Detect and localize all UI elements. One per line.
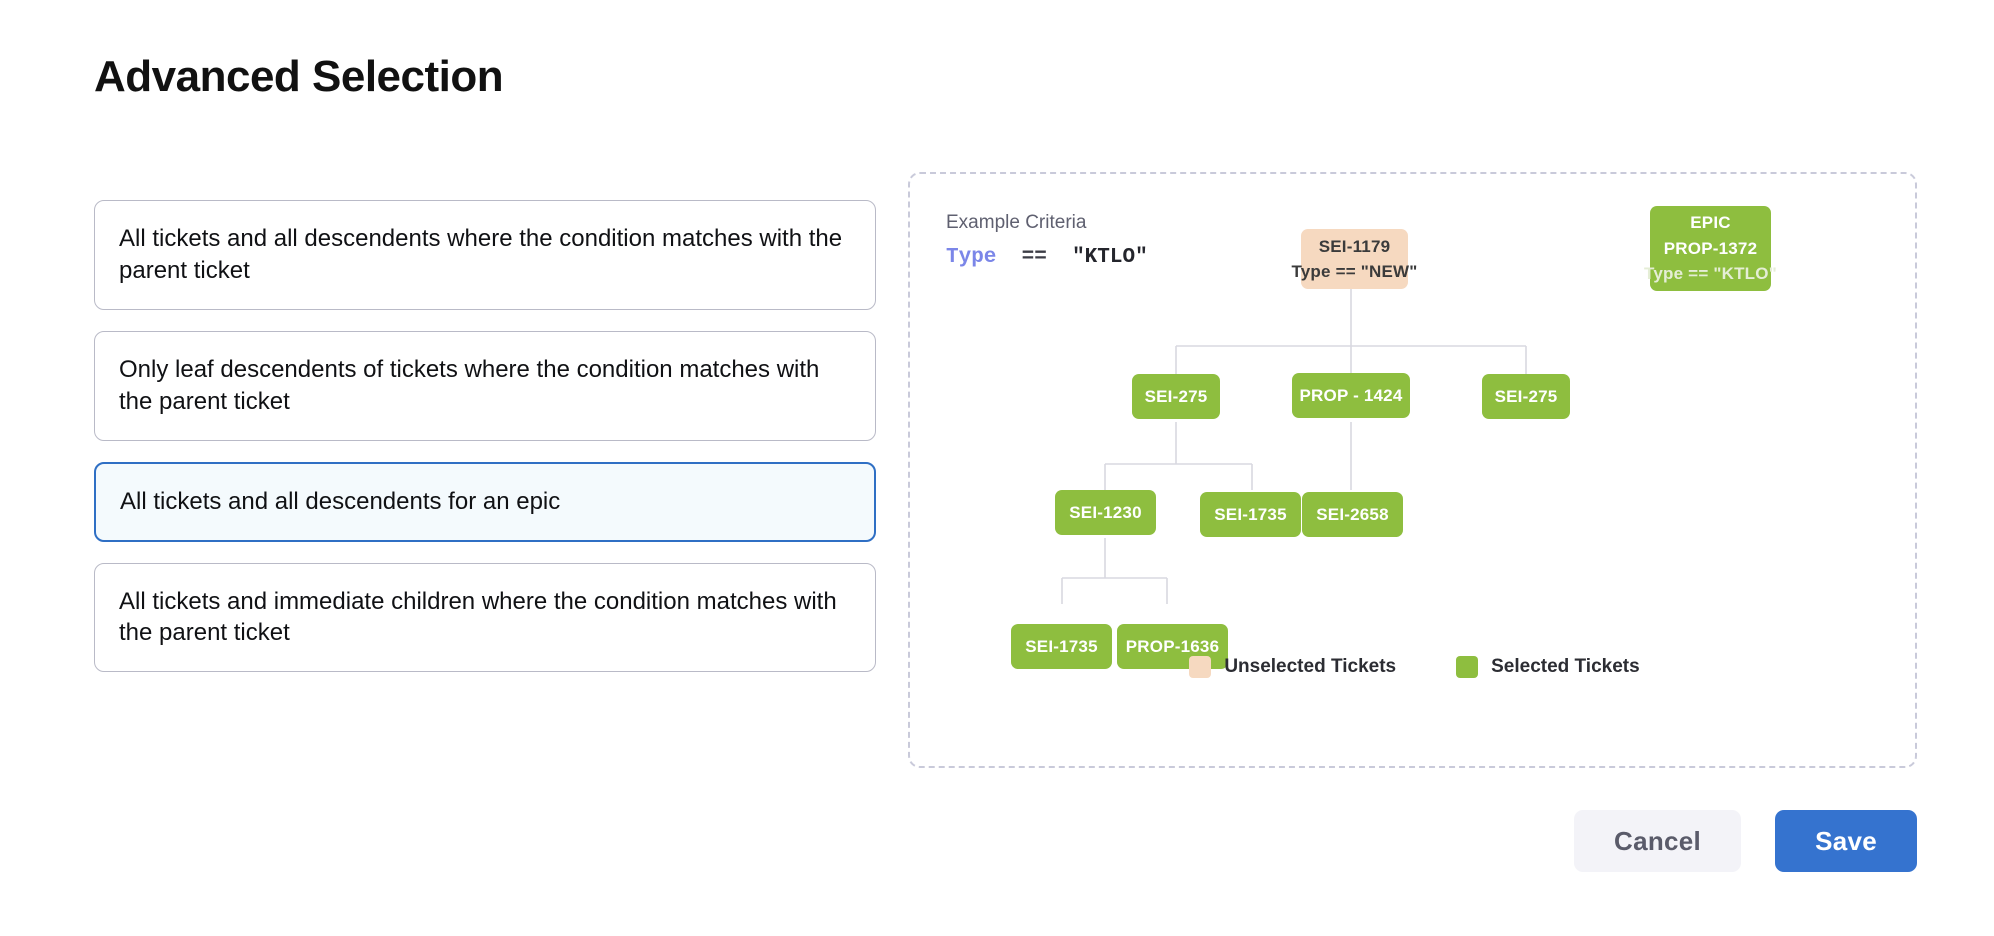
- node-line: SEI-2658: [1316, 502, 1388, 528]
- option-card-immediate-children[interactable]: All tickets and immediate children where…: [94, 563, 876, 673]
- node-line: SEI-1179: [1319, 234, 1391, 260]
- advanced-selection-dialog: Advanced Selection All tickets and all d…: [0, 0, 1994, 936]
- tree-node-prop-1424[interactable]: PROP - 1424: [1292, 373, 1410, 418]
- option-label: All tickets and all descendents where th…: [119, 225, 842, 284]
- option-card-all-descendents[interactable]: All tickets and all descendents where th…: [94, 200, 876, 310]
- tree-node-sei-2658[interactable]: SEI-2658: [1302, 492, 1403, 537]
- cancel-button[interactable]: Cancel: [1574, 810, 1741, 872]
- selection-options-list: All tickets and all descendents where th…: [94, 200, 876, 693]
- node-line: SEI-275: [1145, 384, 1208, 410]
- tree-legend: Unselected Tickets Selected Tickets: [910, 656, 1919, 678]
- legend-swatch-selected-icon: [1456, 656, 1478, 678]
- node-line: SEI-1230: [1069, 500, 1141, 526]
- page-title: Advanced Selection: [94, 52, 503, 102]
- tree-node-sei-275-left[interactable]: SEI-275: [1132, 374, 1220, 419]
- save-button[interactable]: Save: [1775, 810, 1917, 872]
- node-line: Type == "NEW": [1291, 259, 1417, 285]
- option-label: All tickets and immediate children where…: [119, 588, 837, 647]
- legend-label: Selected Tickets: [1491, 656, 1640, 678]
- option-label: Only leaf descendents of tickets where t…: [119, 356, 819, 415]
- option-label: All tickets and all descendents for an e…: [120, 488, 560, 515]
- node-line: SEI-1735: [1214, 502, 1286, 528]
- option-card-leaf-descendents[interactable]: Only leaf descendents of tickets where t…: [94, 331, 876, 441]
- legend-label: Unselected Tickets: [1224, 656, 1396, 678]
- option-card-epic-descendents[interactable]: All tickets and all descendents for an e…: [94, 462, 876, 542]
- tree-node-sei-1735-upper[interactable]: SEI-1735: [1200, 492, 1301, 537]
- tree-node-sei-1179[interactable]: SEI-1179 Type == "NEW": [1301, 229, 1408, 289]
- node-line: SEI-275: [1495, 384, 1558, 410]
- example-preview-panel: Example Criteria Type == "KTLO": [908, 172, 1917, 768]
- node-line: PROP - 1424: [1300, 383, 1403, 409]
- tree-node-epic-prop-1372[interactable]: EPIC PROP-1372 Type == "KTLO": [1650, 206, 1771, 291]
- dialog-footer: Cancel Save: [94, 810, 1917, 872]
- tree-node-sei-275-right[interactable]: SEI-275: [1482, 374, 1570, 419]
- legend-item-selected: Selected Tickets: [1456, 656, 1640, 678]
- ticket-tree-diagram: SEI-1179 Type == "NEW" EPIC PROP-1372 Ty…: [910, 174, 1919, 770]
- legend-swatch-unselected-icon: [1189, 656, 1211, 678]
- tree-node-sei-1230[interactable]: SEI-1230: [1055, 490, 1156, 535]
- legend-item-unselected: Unselected Tickets: [1189, 656, 1396, 678]
- node-line: Type == "KTLO": [1644, 261, 1777, 287]
- node-line: PROP-1372: [1664, 236, 1757, 262]
- node-line: EPIC: [1690, 210, 1730, 236]
